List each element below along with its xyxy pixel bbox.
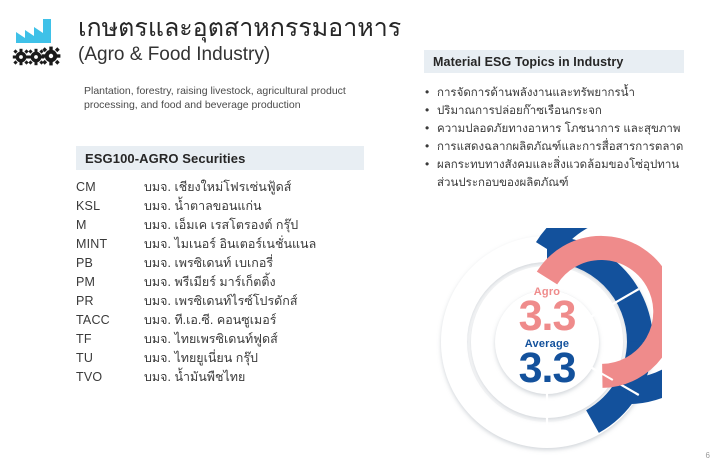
- list-item: การแสดงฉลากผลิตภัณฑ์และการสื่อสารการตลาด: [424, 139, 684, 156]
- slide: เกษตรและอุตสาหกรรมอาหาร (Agro & Food Ind…: [0, 0, 724, 468]
- security-name: บมจ. เชียงใหม่โฟรเซ่นฟู้ดส์: [144, 178, 364, 197]
- security-symbol: M: [76, 216, 144, 235]
- security-symbol: PB: [76, 254, 144, 273]
- security-name: บมจ. เอ็มเค เรสโตรองต์ กรุ๊ป: [144, 216, 364, 235]
- list-item: PB บมจ. เพรซิเดนท์ เบเกอรี่: [76, 254, 364, 273]
- security-symbol: CM: [76, 178, 144, 197]
- security-symbol: TVO: [76, 368, 144, 387]
- center-disc-top: [496, 291, 598, 393]
- security-name: บมจ. เพรซิเดนท์ไรซ์โปรดักส์: [144, 292, 364, 311]
- esg-topics-band-label: Material ESG Topics in Industry: [424, 50, 684, 73]
- factory-gears-icon: [12, 16, 72, 72]
- header: เกษตรและอุตสาหกรรมอาหาร (Agro & Food Ind…: [12, 12, 432, 72]
- list-item: M บมจ. เอ็มเค เรสโตรองต์ กรุ๊ป: [76, 216, 364, 235]
- security-name: บมจ. ไมเนอร์ อินเตอร์เนชั่นแนล: [144, 235, 364, 254]
- page-title-thai: เกษตรและอุตสาหกรรมอาหาร: [78, 14, 401, 42]
- securities-panel: ESG100-AGRO Securities CM บมจ. เชียงใหม่…: [76, 146, 364, 387]
- page-number: 6: [706, 451, 710, 460]
- security-symbol: PR: [76, 292, 144, 311]
- security-name: บมจ. เพรซิเดนท์ เบเกอรี่: [144, 254, 364, 273]
- security-symbol: KSL: [76, 197, 144, 216]
- list-item: PM บมจ. พรีเมียร์ มาร์เก็ตติ้ง: [76, 273, 364, 292]
- list-item: CM บมจ. เชียงใหม่โฟรเซ่นฟู้ดส์: [76, 178, 364, 197]
- securities-band-label: ESG100-AGRO Securities: [76, 146, 364, 170]
- security-symbol: TU: [76, 349, 144, 368]
- security-name: บมจ. น้ำมันพืชไทย: [144, 368, 364, 387]
- list-item: KSL บมจ. น้ำตาลขอนแก่น: [76, 197, 364, 216]
- list-item: TF บมจ. ไทยเพรซิเดนท์ฟูดส์: [76, 330, 364, 349]
- list-item: การจัดการด้านพลังงานและทรัพยากรน้ำ: [424, 85, 684, 102]
- security-name: บมจ. ไทยเพรซิเดนท์ฟูดส์: [144, 330, 364, 349]
- esg-topics-panel: Material ESG Topics in Industry การจัดกา…: [424, 50, 684, 192]
- title-block: เกษตรและอุตสาหกรรมอาหาร (Agro & Food Ind…: [78, 12, 401, 67]
- list-item-continuation: ส่วนประกอบของผลิตภัณฑ์: [424, 175, 684, 192]
- list-item: MINT บมจ. ไมเนอร์ อินเตอร์เนชั่นแนล: [76, 235, 364, 254]
- esg-score-donut-chart: Agro 3.3 Average 3.3: [432, 228, 662, 456]
- list-item: ผลกระทบทางสังคมและสิ่งแวดล้อมของโซ่อุปทา…: [424, 157, 684, 174]
- list-item: ปริมาณการปล่อยก๊าซเรือนกระจก: [424, 103, 684, 120]
- list-item: TACC บมจ. ที.เอ.ซี. คอนซูเมอร์: [76, 311, 364, 330]
- esg-topics-list: การจัดการด้านพลังงานและทรัพยากรน้ำ ปริมา…: [424, 85, 684, 174]
- securities-list: CM บมจ. เชียงใหม่โฟรเซ่นฟู้ดส์ KSL บมจ. …: [76, 178, 364, 387]
- list-item: TU บมจ. ไทยยูเนี่ยน กรุ๊ป: [76, 349, 364, 368]
- page-title-english: (Agro & Food Industry): [78, 43, 401, 67]
- list-item: PR บมจ. เพรซิเดนท์ไรซ์โปรดักส์: [76, 292, 364, 311]
- list-item: ความปลอดภัยทางอาหาร โภชนาการ และสุขภาพ: [424, 121, 684, 138]
- security-name: บมจ. ไทยยูเนี่ยน กรุ๊ป: [144, 349, 364, 368]
- security-name: บมจ. พรีเมียร์ มาร์เก็ตติ้ง: [144, 273, 364, 292]
- security-name: บมจ. น้ำตาลขอนแก่น: [144, 197, 364, 216]
- security-symbol: TF: [76, 330, 144, 349]
- security-symbol: PM: [76, 273, 144, 292]
- security-name: บมจ. ที.เอ.ซี. คอนซูเมอร์: [144, 311, 364, 330]
- security-symbol: MINT: [76, 235, 144, 254]
- security-symbol: TACC: [76, 311, 144, 330]
- list-item: TVO บมจ. น้ำมันพืชไทย: [76, 368, 364, 387]
- industry-description: Plantation, forestry, raising livestock,…: [84, 84, 394, 112]
